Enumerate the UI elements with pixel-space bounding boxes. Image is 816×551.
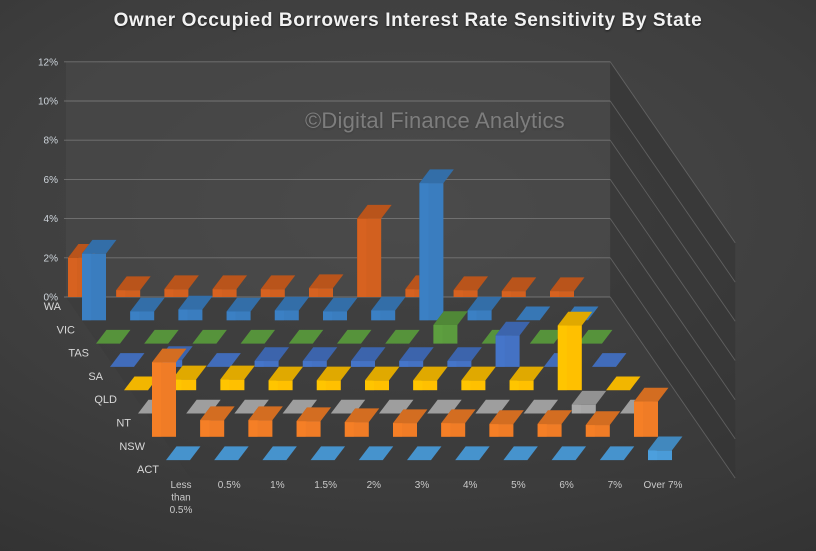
bar-front-highlight [178,310,187,321]
x-axis-tick-line: than [171,493,190,504]
bar-front-highlight [152,362,161,436]
series-axis-label-vic: VIC [57,324,75,336]
bar-front-highlight [433,325,442,344]
x-axis-tick-label: 6% [559,480,574,491]
y-axis-tick-label: 6% [44,175,59,186]
bar-front-highlight [468,311,477,321]
bar-front-highlight [572,405,581,414]
bar-front-highlight [365,380,374,390]
y-axis-tick-label: 4% [44,214,59,225]
x-axis-tick-label: Lessthan0.5% [170,480,193,516]
bar-front-highlight [550,291,559,297]
bar-front-highlight [441,423,450,437]
series-axis-label-sa: SA [88,371,103,383]
bar-front-highlight [317,380,326,390]
x-axis-tick-line: 6% [559,480,574,491]
bar-front-highlight [275,311,284,321]
x-axis-tick-label: 0.5% [218,480,241,491]
x-axis-tick-label: 4% [463,480,478,491]
series-axis-label-act: ACT [137,464,159,476]
series-axis-label-qld: QLD [94,394,117,406]
x-axis-labels: Lessthan0.5%0.5%1%1.5%2%3%4%5%6%7%Over 7… [170,480,683,516]
bar-front-highlight [220,379,229,390]
bar-front-highlight [496,336,505,367]
bar-front-highlight [586,425,595,437]
bar-front-highlight [269,380,278,390]
series-axis-label-nt: NT [116,418,131,430]
bar-front-highlight [255,361,264,367]
x-axis-tick-label: 5% [511,480,526,491]
x-axis-tick-label: 1% [270,480,285,491]
bar-front-highlight [413,380,422,390]
bar-front-highlight [248,420,257,437]
y-axis-tick-label: 8% [44,136,59,147]
bar-front-highlight [309,288,318,297]
x-axis-tick-line: Less [170,480,191,491]
x-axis-tick-label: 7% [608,480,623,491]
bar-front-highlight [116,290,125,297]
bar-front-highlight [303,361,312,367]
x-axis-tick-line: 0.5% [170,505,193,516]
series-axis-label-tas: TAS [68,348,89,360]
bar-front-highlight [489,424,498,437]
bar-front-highlight [454,290,463,297]
bar-front-highlight [261,289,270,297]
x-axis-tick-label: 1.5% [314,480,337,491]
bar-front-highlight [200,420,209,437]
bar-front-highlight [82,254,91,321]
bar-front-highlight [510,380,519,390]
x-axis-tick-line: 1.5% [314,480,337,491]
x-axis-tick-line: 4% [463,480,478,491]
bar-front-highlight [213,289,222,297]
bar-front-highlight [558,326,567,391]
x-axis-tick-line: 5% [511,480,526,491]
bar-front-highlight [405,289,414,297]
bar-front-highlight [399,361,408,367]
bar-front-highlight [345,422,354,437]
x-axis-tick-line: 7% [608,480,623,491]
x-axis-tick-line: 2% [367,480,382,491]
y-axis-tick-label: 10% [38,97,58,108]
bar-front-highlight [461,380,470,390]
bar-front-highlight [130,311,139,320]
bar-front-highlight [419,183,428,320]
bar-front-highlight [502,291,511,297]
bar-front-highlight [323,311,332,320]
bar-front-highlight [371,311,380,321]
x-axis-tick-line: 0.5% [218,480,241,491]
bar-front-highlight [68,258,77,297]
y-axis-tick-label: 2% [44,253,59,264]
x-axis-tick-line: 1% [270,480,285,491]
series-axis-label-nsw: NSW [119,441,145,453]
bar-front-highlight [538,424,547,437]
bar-front-highlight [357,219,366,297]
x-axis-tick-label: 3% [415,480,430,491]
chart-root: Owner Occupied Borrowers Interest Rate S… [0,0,816,551]
x-axis-tick-label: Over 7% [644,480,683,491]
x-axis-tick-line: 3% [415,480,430,491]
x-axis-tick-line: Over 7% [644,480,683,491]
bar-front-highlight [164,289,173,297]
bar-front-highlight [648,450,657,460]
x-axis-tick-label: 2% [367,480,382,491]
series-axis-label-wa: WA [44,301,62,313]
y-axis-tick-label: 12% [38,57,58,68]
bar-front-highlight [634,402,643,437]
bar-front-highlight [351,361,360,367]
bar-front-highlight [393,423,402,437]
bar-chart-3d: 0%2%4%6%8%10%12%WAVICTASSAQLDNTNSWACTLes… [0,0,816,551]
bar-front-highlight [227,311,236,320]
bar-front-highlight [447,361,456,367]
bar-front-highlight [297,421,306,437]
